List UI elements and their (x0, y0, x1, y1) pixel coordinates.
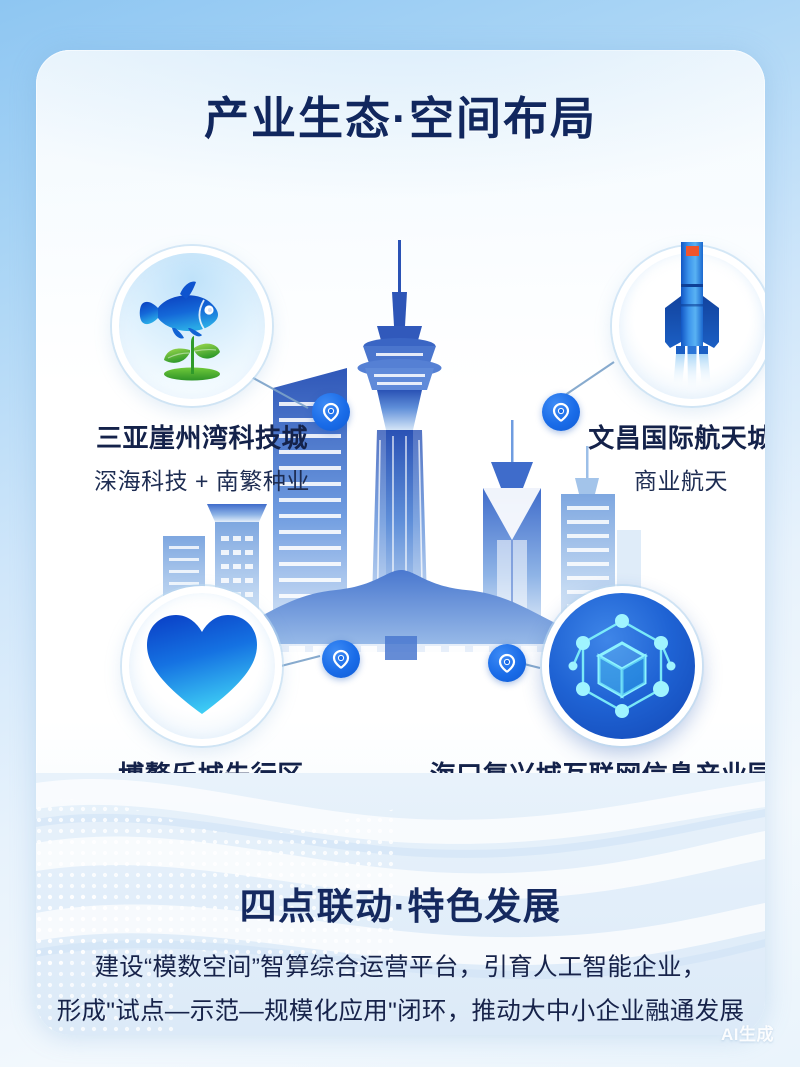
footer-line-2: 形成"试点—示范—规模化应用"闭环，推动大中小企业融通发展 (36, 990, 765, 1034)
skyline-diamond-tower (483, 420, 541, 634)
footer-body: 建设“模数空间”智算综合运营平台，引育人工智能企业， 形成"试点—示范—规模化应… (36, 946, 765, 1034)
heart-icon (122, 586, 282, 746)
footer-line-1: 建设“模数空间”智算综合运营平台，引育人工智能企业， (36, 946, 765, 990)
zone-name: 三亚崖州湾科技城 (42, 418, 362, 455)
zone-desc: 深海科技 + 南繁种业 (42, 462, 362, 496)
ai-watermark: AI生成 (721, 1020, 774, 1045)
footer-title: 四点联动·特色发展 (36, 876, 765, 930)
network-cube-icon (542, 586, 702, 746)
zone-label-sanya: 三亚崖州湾科技城 深海科技 + 南繁种业 (42, 418, 362, 496)
fish-sprout-icon (112, 246, 272, 406)
rocket-icon (612, 246, 765, 406)
map-pin-icon-zone-4[interactable] (488, 644, 526, 682)
page-title: 产业生态·空间布局 (36, 82, 765, 147)
zone-desc: 商业航天 (556, 462, 765, 496)
zone-label-wenchang: 文昌国际航天城 商业航天 (556, 418, 765, 496)
poster-card: 产业生态·空间布局 (36, 50, 765, 1035)
zone-name: 文昌国际航天城 (556, 418, 765, 455)
map-pin-icon-zone-3[interactable] (322, 640, 360, 678)
